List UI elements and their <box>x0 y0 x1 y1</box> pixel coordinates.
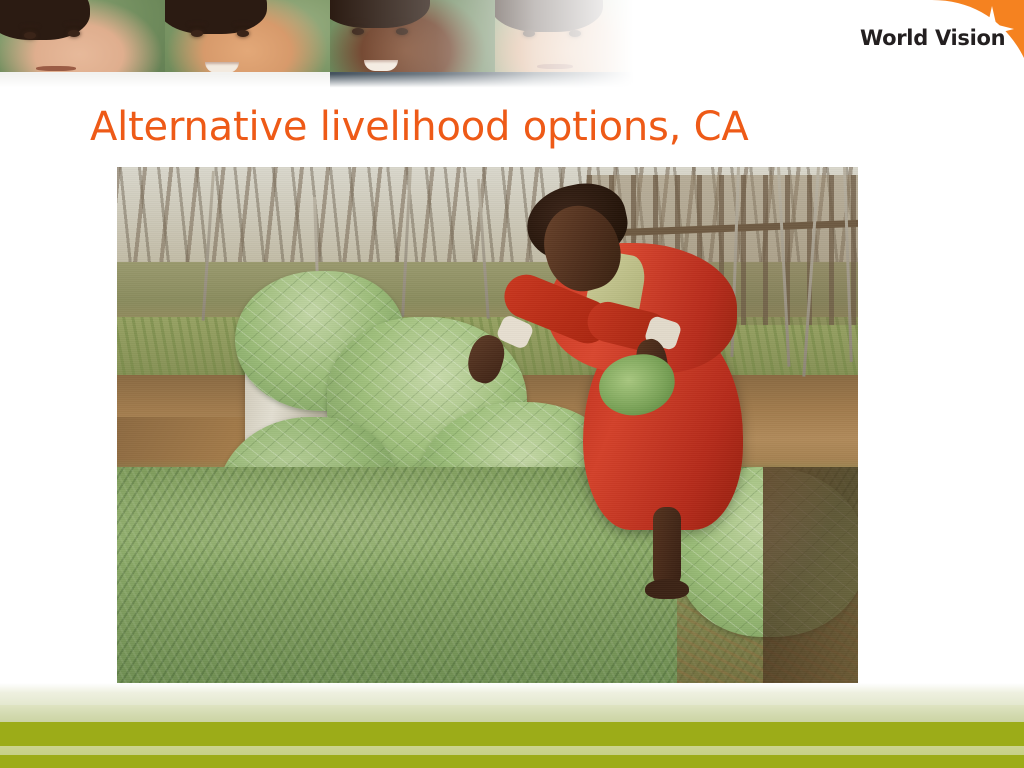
footer-bands <box>0 683 1024 768</box>
banner-bottom-fade <box>0 74 660 88</box>
footer-band-pale-olive <box>0 705 1024 722</box>
main-photo <box>117 167 858 683</box>
photo-dark-corner <box>763 467 858 683</box>
children-photo-strip <box>0 0 660 88</box>
footer-band-cream-gradient <box>0 683 1024 705</box>
footer-band-light-olive <box>0 746 1024 755</box>
logo-wordmark: World Vision <box>860 26 1005 50</box>
photo-woman-foot <box>645 579 689 599</box>
footer-band-olive-green <box>0 722 1024 746</box>
page-title: Alternative livelihood options, CA <box>90 105 950 149</box>
footer-band-olive-green-2 <box>0 755 1024 768</box>
photo-woman-leg <box>653 507 681 587</box>
world-vision-logo: World Vision <box>824 0 1024 88</box>
presentation-slide: World Vision Alternative livelihood opti… <box>0 0 1024 768</box>
header-banner: World Vision <box>0 0 1024 88</box>
